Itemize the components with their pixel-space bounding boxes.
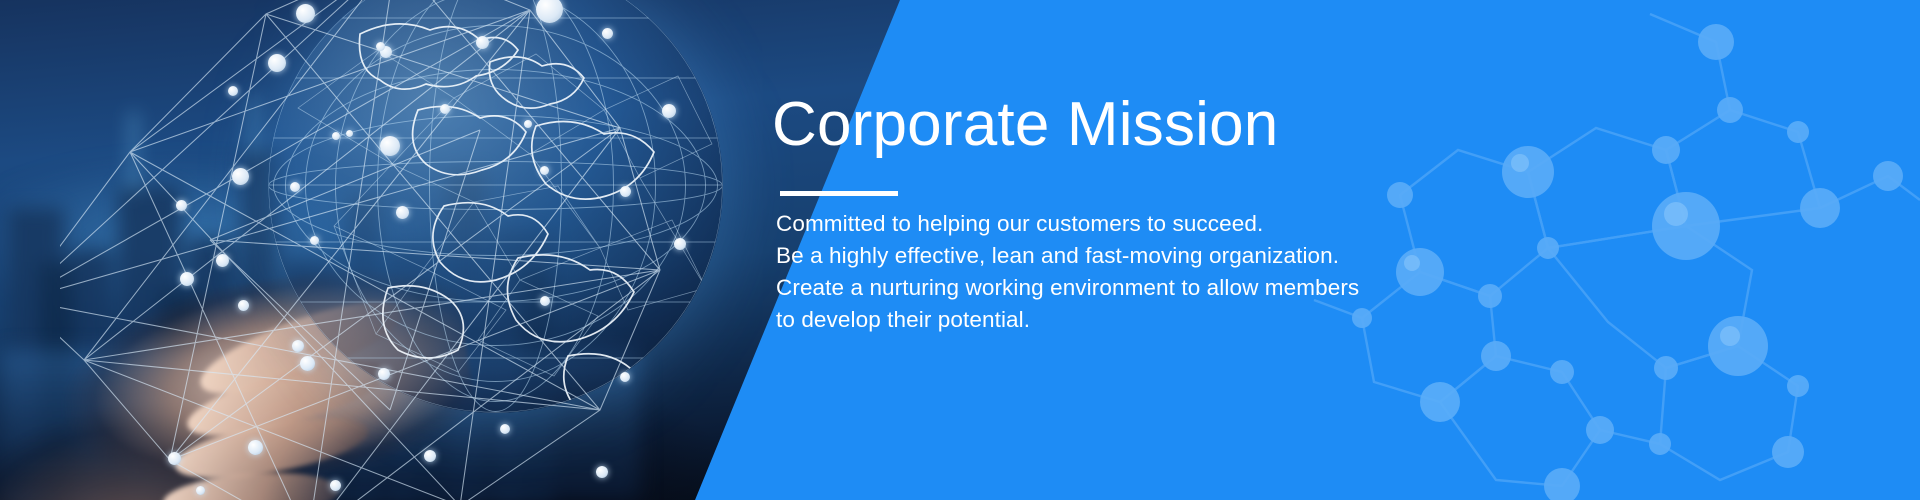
network-node: [662, 104, 676, 118]
network-node: [524, 120, 532, 128]
mission-line: Committed to helping our customers to su…: [776, 208, 1476, 240]
network-node: [540, 296, 550, 306]
network-connections-icon: [60, 0, 780, 500]
title-underline-divider: [780, 191, 898, 196]
network-node: [674, 238, 686, 250]
network-node: [440, 104, 450, 114]
mission-statement-list: Committed to helping our customers to su…: [776, 208, 1476, 336]
network-node: [620, 372, 630, 382]
network-node: [376, 42, 385, 51]
network-node: [540, 166, 549, 175]
network-node: [176, 200, 187, 211]
network-node: [268, 54, 286, 72]
network-node: [238, 300, 249, 311]
network-node: [380, 136, 400, 156]
network-node: [476, 36, 489, 49]
network-node: [196, 486, 205, 495]
corporate-mission-banner: Corporate Mission Committed to helping o…: [0, 0, 1920, 500]
network-node: [216, 254, 229, 267]
network-node: [620, 186, 631, 197]
network-node: [602, 28, 613, 39]
mission-line: Be a highly effective, lean and fast-mov…: [776, 240, 1476, 272]
network-node: [330, 480, 341, 491]
network-node: [290, 182, 300, 192]
network-node: [296, 4, 315, 23]
network-node: [346, 130, 353, 137]
network-node: [180, 272, 194, 286]
mission-line: Create a nurturing working environment t…: [776, 272, 1476, 304]
mission-text-block: Corporate Mission Committed to helping o…: [772, 0, 1472, 500]
network-node: [228, 86, 238, 96]
network-node: [424, 450, 436, 462]
network-node: [500, 424, 510, 434]
network-node: [168, 452, 181, 465]
network-node: [596, 466, 608, 478]
network-node: [310, 236, 319, 245]
page-title: Corporate Mission: [772, 92, 1278, 157]
network-node: [332, 132, 340, 140]
network-node: [396, 206, 409, 219]
network-node: [292, 340, 304, 352]
mission-line: to develop their potential.: [776, 304, 1476, 336]
network-node: [300, 356, 315, 371]
network-node: [232, 168, 249, 185]
network-node: [248, 440, 263, 455]
network-node: [378, 368, 390, 380]
